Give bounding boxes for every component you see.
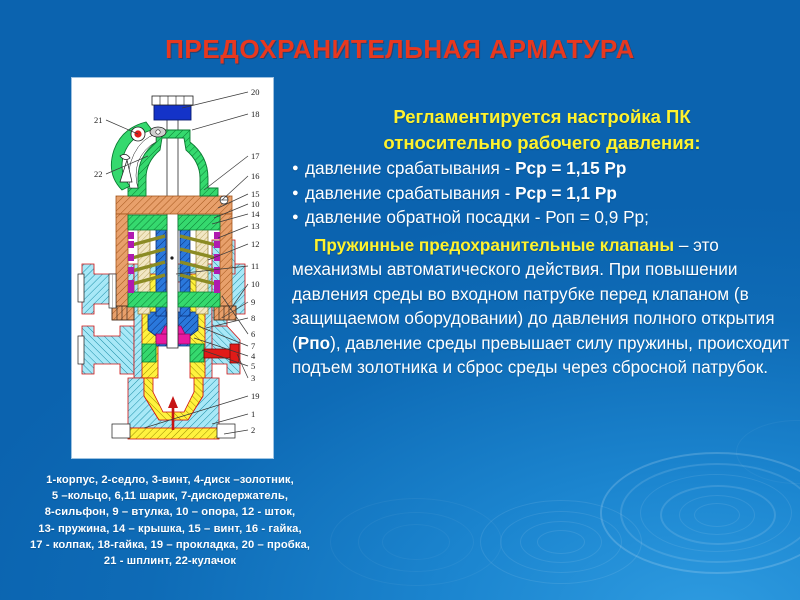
svg-text:9: 9 <box>251 297 255 307</box>
pressure-bullet-list: давление срабатывания - Рср = 1,15 Рр да… <box>292 156 792 230</box>
lead-heading-line-2: относительно рабочего давления: <box>292 130 792 155</box>
svg-text:19: 19 <box>251 391 260 401</box>
bullet-value: Рср = 1,1 Рр <box>515 183 617 203</box>
svg-text:22: 22 <box>94 169 103 179</box>
caption-line: 21 - шплинт, 22-кулачок <box>2 553 338 569</box>
svg-text:12: 12 <box>251 239 260 249</box>
svg-text:17: 17 <box>251 151 260 161</box>
caption-line: 8-сильфон, 9 – втулка, 10 – опора, 12 - … <box>2 504 338 520</box>
content-column: Регламентируется настройка ПК относитель… <box>292 104 792 380</box>
svg-text:1: 1 <box>251 409 255 419</box>
list-item: давление срабатывания - Рср = 1,15 Рр <box>292 156 792 181</box>
valve-diagram-panel: 20 18 17 16 15 10 14 13 12 11 10 9 8 6 7… <box>72 78 273 458</box>
svg-text:11: 11 <box>251 261 259 271</box>
paragraph-highlight: Пружинные предохранительные клапаны <box>314 235 674 255</box>
lead-heading-line-1: Регламентируется настройка ПК <box>292 104 792 129</box>
svg-text:20: 20 <box>251 87 260 97</box>
svg-text:5: 5 <box>251 361 255 371</box>
figure-caption: 1-корпус, 2-седло, 3-винт, 4-диск –золот… <box>2 472 338 569</box>
bullet-value: Роп = 0,9 Рр; <box>545 207 649 227</box>
caption-line: 1-корпус, 2-седло, 3-винт, 4-диск –золот… <box>2 472 338 488</box>
svg-text:6: 6 <box>251 329 255 339</box>
paragraph-rest-b: ), давление среды превышает силу пружины… <box>292 333 789 378</box>
svg-text:3: 3 <box>251 373 255 383</box>
svg-text:16: 16 <box>251 171 260 181</box>
bullet-value: Рср = 1,15 Рр <box>515 158 626 178</box>
caption-line: 5 –кольцо, 6,11 шарик, 7-дискодержатель, <box>2 488 338 504</box>
svg-text:7: 7 <box>251 341 255 351</box>
svg-text:15: 15 <box>251 189 260 199</box>
svg-text:10: 10 <box>251 199 260 209</box>
svg-text:10: 10 <box>251 279 260 289</box>
svg-text:13: 13 <box>251 221 260 231</box>
svg-text:8: 8 <box>251 313 255 323</box>
svg-text:2: 2 <box>251 425 255 435</box>
svg-text:18: 18 <box>251 109 260 119</box>
caption-line: 17 - колпак, 18-гайка, 19 – прокладка, 2… <box>2 537 338 553</box>
bullet-text: давление срабатывания - <box>305 183 515 203</box>
bullet-text: давление срабатывания - <box>305 158 515 178</box>
svg-text:14: 14 <box>251 209 260 219</box>
body-paragraph: Пружинные предохранительные клапаны – эт… <box>292 233 792 381</box>
svg-text:21: 21 <box>94 115 103 125</box>
paragraph-bold-term: Рпо <box>298 333 330 353</box>
bullet-text: давление обратной посадки - <box>305 207 545 227</box>
list-item: давление срабатывания - Рср = 1,1 Рр <box>292 181 792 206</box>
list-item: давление обратной посадки - Роп = 0,9 Рр… <box>292 205 792 230</box>
slide-title: ПРЕДОХРАНИТЕЛЬНАЯ АРМАТУРА <box>0 34 800 65</box>
caption-line: 13- пружина, 14 – крышка, 15 – винт, 16 … <box>2 521 338 537</box>
safety-valve-cross-section: 20 18 17 16 15 10 14 13 12 11 10 9 8 6 7… <box>72 78 273 458</box>
